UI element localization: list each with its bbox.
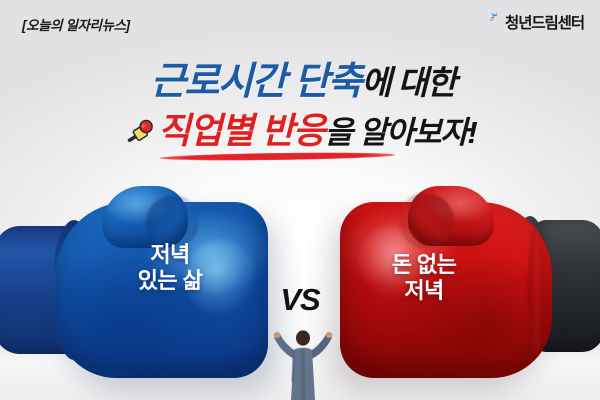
headline-line-1: 근로시간 단축에 대한: [145, 62, 456, 101]
headline-accent-red: 직업별 반응: [158, 110, 325, 151]
blue-glove-crease: [146, 196, 198, 248]
headline-brush-underline: [160, 151, 395, 161]
microphone-icon: [122, 119, 156, 149]
headline-rest-1: 에 대한: [361, 64, 455, 101]
headline-rest-2: 을 알아보자!: [325, 115, 477, 150]
vs-label: VS: [0, 282, 600, 318]
person-arms-raised-icon: [268, 330, 338, 400]
headline-block: 근로시간 단축에 대한 직업별 반응을 알아보자!: [0, 62, 600, 150]
headline-line-2: 직업별 반응을 알아보자!: [124, 113, 477, 150]
dream-center-emblem-icon: [488, 11, 503, 26]
brand-logo-text: 청년드림센터: [505, 16, 584, 32]
headline-accent-blue: 근로시간 단축: [151, 60, 362, 103]
news-tagline: [오늘의 일자리뉴스]: [22, 14, 130, 34]
red-glove-label-line-1: 돈 없는: [340, 252, 508, 278]
brand-logo: 청년드림센터: [488, 13, 584, 32]
news-card-image: [오늘의 일자리뉴스] 청년드림센터 근로시간 단축에 대한: [0, 0, 600, 400]
blue-glove-label-line-1: 저녁: [90, 242, 250, 268]
